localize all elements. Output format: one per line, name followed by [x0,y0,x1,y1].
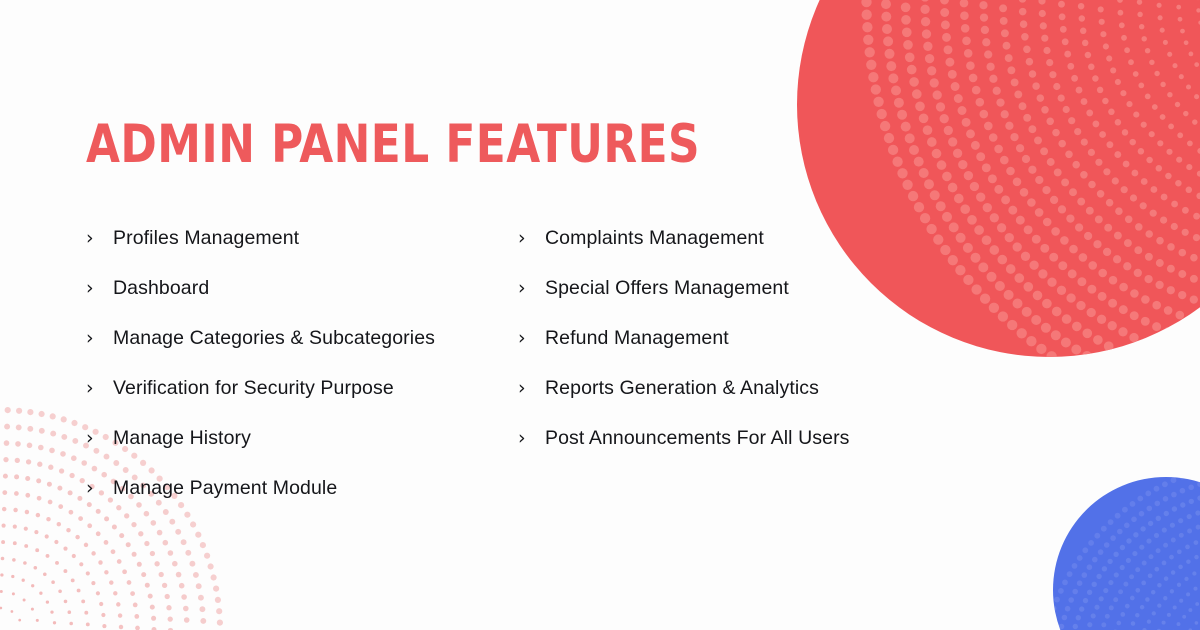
slide-canvas: ADMIN PANEL FEATURES › Profiles Manageme… [0,0,1200,630]
list-item[interactable]: › Manage Categories & Subcategories [86,313,518,363]
list-item[interactable]: › Verification for Security Purpose [86,363,518,413]
list-item[interactable]: › Manage History [86,413,518,463]
chevron-right-icon: › [86,263,113,313]
list-item[interactable]: › Special Offers Management [518,263,958,313]
left-column: › Profiles Management › Dashboard › Mana… [86,213,518,513]
list-item[interactable]: › Complaints Management [518,213,958,263]
feature-label: Manage Payment Module [113,463,337,513]
slide-content: ADMIN PANEL FEATURES › Profiles Manageme… [86,118,986,513]
feature-label: Post Announcements For All Users [545,413,850,463]
blue-dotted-circle [1053,477,1200,630]
chevron-right-icon: › [518,213,545,263]
right-column: › Complaints Management › Special Offers… [518,213,958,513]
chevron-right-icon: › [86,363,113,413]
feature-label: Reports Generation & Analytics [545,363,819,413]
chevron-right-icon: › [86,213,113,263]
chevron-right-icon: › [518,263,545,313]
list-item[interactable]: › Reports Generation & Analytics [518,363,958,413]
list-item[interactable]: › Refund Management [518,313,958,363]
feature-label: Profiles Management [113,213,299,263]
feature-label: Verification for Security Purpose [113,363,394,413]
feature-columns: › Profiles Management › Dashboard › Mana… [86,213,986,513]
feature-label: Special Offers Management [545,263,789,313]
chevron-right-icon: › [518,363,545,413]
feature-label: Complaints Management [545,213,764,263]
chevron-right-icon: › [86,413,113,463]
chevron-right-icon: › [86,463,113,513]
chevron-right-icon: › [518,413,545,463]
list-item[interactable]: › Manage Payment Module [86,463,518,513]
feature-label: Manage History [113,413,251,463]
chevron-right-icon: › [86,313,113,363]
feature-label: Refund Management [545,313,729,363]
list-item[interactable]: › Dashboard [86,263,518,313]
page-title: ADMIN PANEL FEATURES [86,118,914,171]
list-item[interactable]: › Post Announcements For All Users [518,413,958,463]
chevron-right-icon: › [518,313,545,363]
feature-label: Manage Categories & Subcategories [113,313,435,363]
feature-label: Dashboard [113,263,209,313]
blue-circle-dot-pattern [1053,477,1200,630]
list-item[interactable]: › Profiles Management [86,213,518,263]
